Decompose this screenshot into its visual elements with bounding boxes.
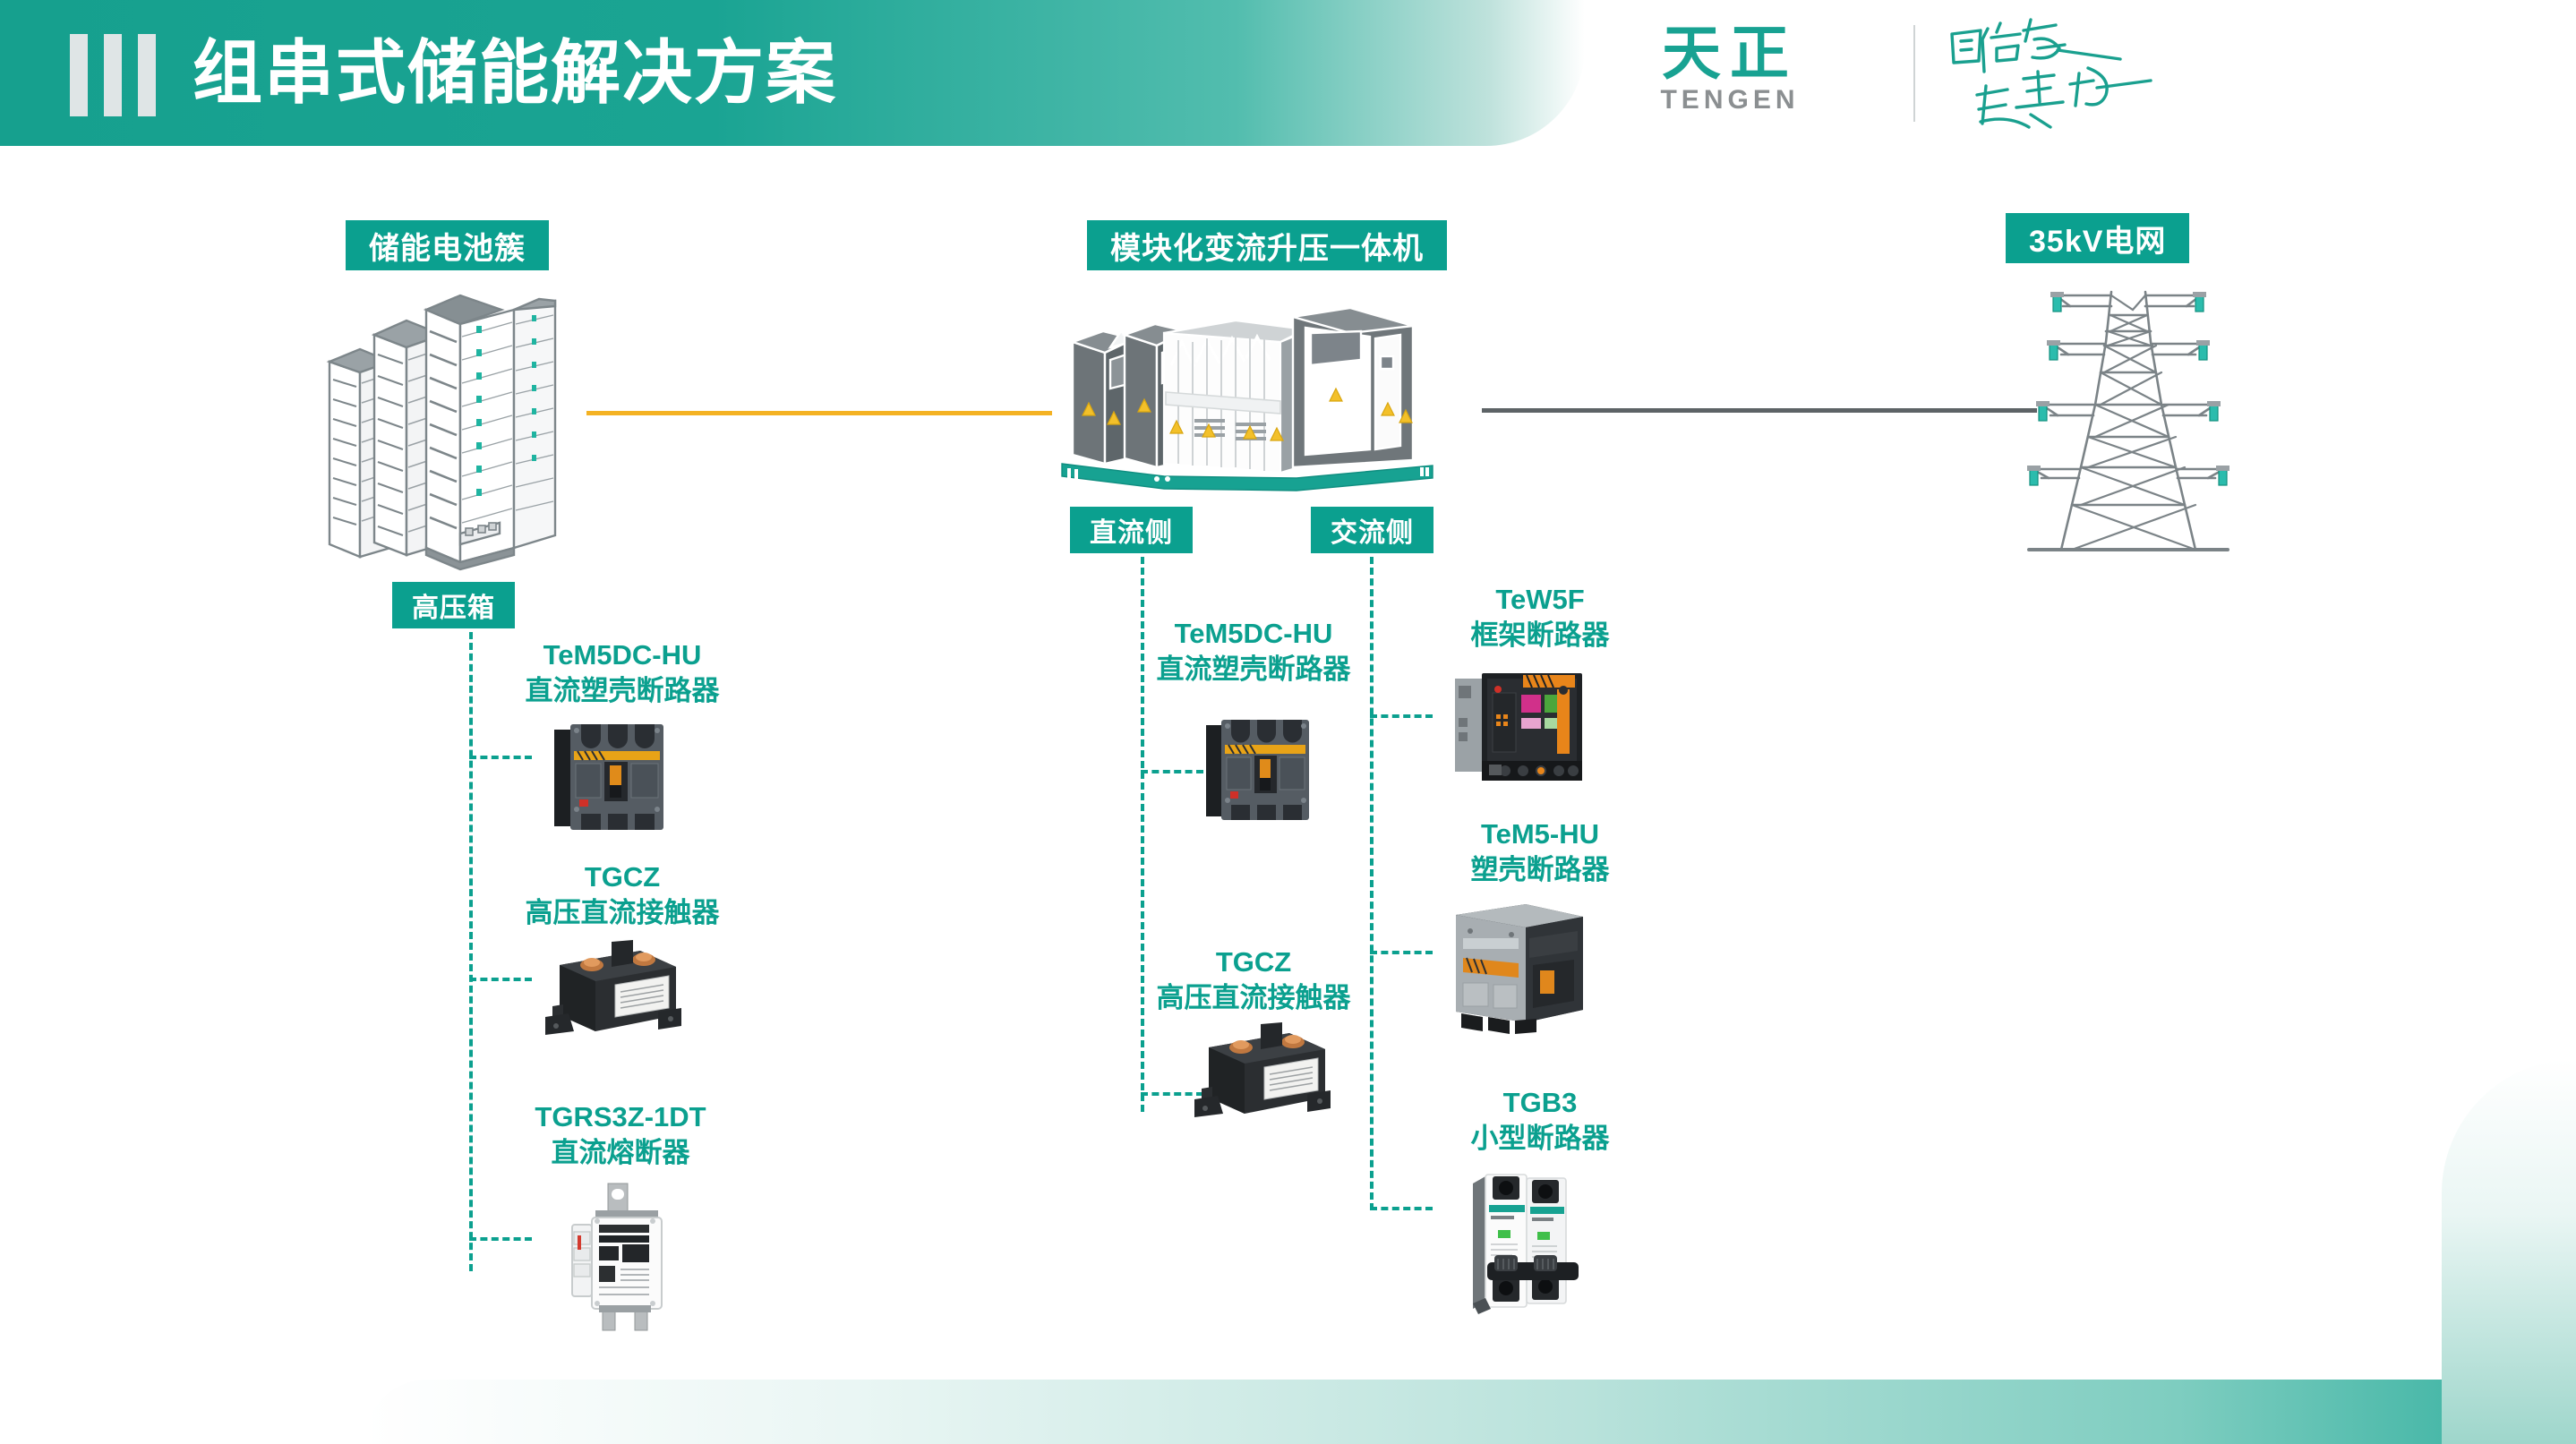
tengen-logo: 天正 TENGEN [1582,21,1878,116]
brand-area: 天正 TENGEN [1582,0,2576,146]
branch-connector-ac-3 [1370,1207,1433,1210]
molded-case-breaker-large-icon [1443,895,1596,1034]
branch-line-battery-vertical [469,632,473,1271]
product-model: TGRS3Z-1DT [491,1099,750,1135]
dc-contactor-icon [533,938,689,1046]
branch-connector-battery-2 [469,978,532,981]
slogan-calligraphy-icon [1945,9,2178,139]
product-model: TeM5DC-HU [1124,616,1383,652]
three-bars-icon [70,34,156,116]
product-name: 直流塑壳断路器 [1124,652,1383,688]
tag-ac-side[interactable]: 交流侧 [1311,507,1433,553]
branch-connector-ac-1 [1370,714,1433,718]
product-name: 塑壳断路器 [1410,852,1670,888]
branch-connector-battery-1 [469,756,532,759]
product-model: TGCZ [1124,944,1383,980]
dc-fuse-icon [560,1182,689,1338]
air-circuit-breaker-icon [1446,671,1594,783]
branch-connector-dc-1 [1141,770,1203,773]
tag-dc-side[interactable]: 直流侧 [1070,507,1193,553]
dc-bus-line [586,411,1052,415]
page-header: 组串式储能解决方案 [0,0,1585,146]
product-model: TeM5DC-HU [501,637,743,673]
brand-divider [1913,25,1915,122]
molded-case-breaker-icon [1195,716,1334,824]
product-name: 框架断路器 [1410,618,1670,654]
product-label-tem5dc-hu-dcside: TeM5DC-HU 直流塑壳断路器 [1124,616,1383,688]
product-label-tem5dc-hu-battery: TeM5DC-HU 直流塑壳断路器 [501,637,743,709]
brand-name-cn: 天正 [1582,21,1878,84]
footer-accent-bar [364,1380,2576,1444]
transmission-tower-icon [2025,279,2231,557]
brand-name-en: TENGEN [1582,84,1878,116]
product-name: 直流塑壳断路器 [501,673,743,709]
product-label-tgcz-battery: TGCZ 高压直流接触器 [501,859,743,931]
branch-connector-battery-3 [469,1237,532,1241]
product-model: TGB3 [1410,1085,1670,1121]
product-model: TeW5F [1410,582,1670,618]
product-name: 直流熔断器 [491,1135,750,1171]
product-model: TeM5-HU [1410,816,1670,852]
converter-booster-container-icon [1046,306,1440,503]
molded-case-breaker-icon [542,721,689,833]
tag-high-voltage-box[interactable]: 高压箱 [392,582,515,628]
product-label-tew5f: TeW5F 框架断路器 [1410,582,1670,654]
page-title: 组串式储能解决方案 [193,25,837,120]
battery-rack-cluster-icon [321,279,589,575]
tag-grid[interactable]: 35kV电网 [2006,213,2189,263]
miniature-circuit-breaker-icon [1455,1162,1589,1323]
ac-bus-line [1482,408,2037,413]
product-model: TGCZ [501,859,743,895]
product-name: 高压直流接触器 [501,895,743,931]
tag-converter-unit[interactable]: 模块化变流升压一体机 [1087,220,1447,270]
tag-battery-cluster[interactable]: 储能电池簇 [346,220,549,270]
product-name: 高压直流接触器 [1124,980,1383,1016]
dc-contactor-icon [1182,1021,1339,1128]
product-name: 小型断路器 [1410,1121,1670,1157]
product-label-tgcz-dcside: TGCZ 高压直流接触器 [1124,944,1383,1016]
product-label-tgrs3z-battery: TGRS3Z-1DT 直流熔断器 [491,1099,750,1171]
footer-corner-accent [2442,1059,2576,1444]
product-label-tem5-hu: TeM5-HU 塑壳断路器 [1410,816,1670,888]
product-label-tgb3: TGB3 小型断路器 [1410,1085,1670,1157]
